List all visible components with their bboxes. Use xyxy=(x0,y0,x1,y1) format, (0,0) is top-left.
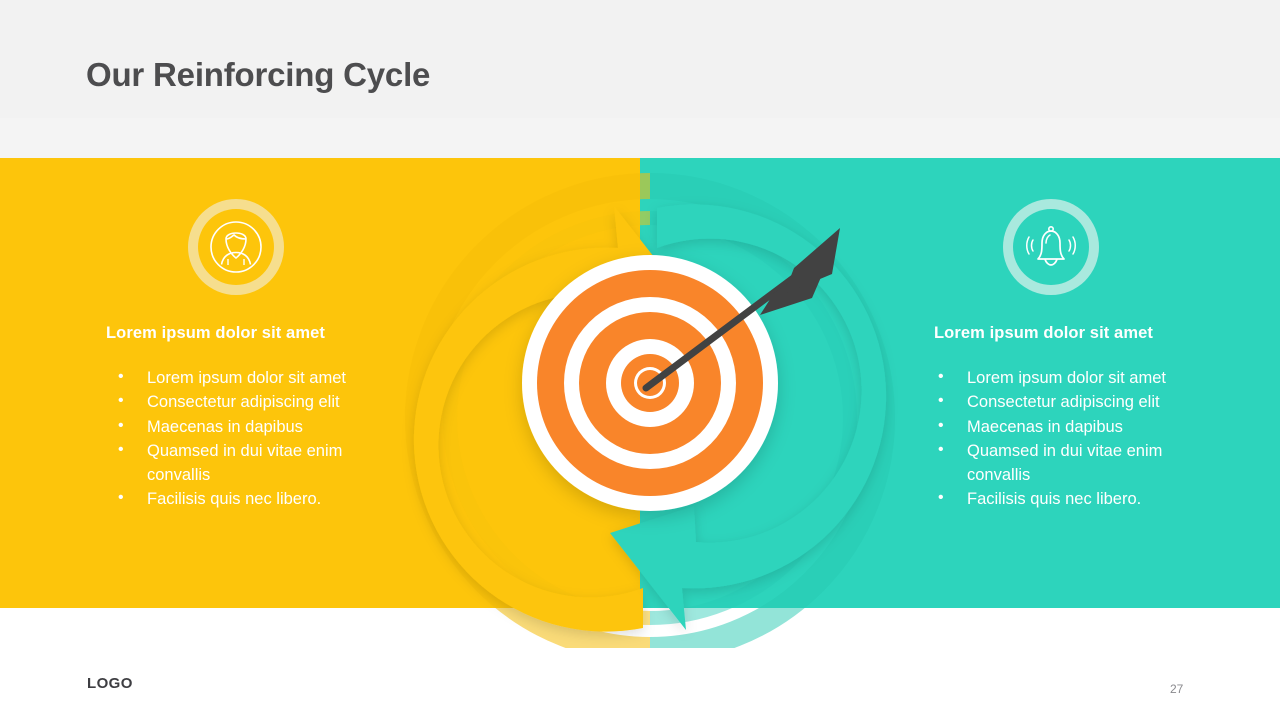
right-section-heading: Lorem ipsum dolor sit amet xyxy=(934,324,1153,343)
list-item: Maecenas in dapibus xyxy=(933,415,1223,439)
user-profile-icon xyxy=(198,209,274,285)
slide-canvas: Our Reinforcing Cycle xyxy=(0,0,1280,720)
list-item: Consectetur adipiscing elit xyxy=(933,390,1223,414)
list-item: Lorem ipsum dolor sit amet xyxy=(933,366,1223,390)
left-section-heading: Lorem ipsum dolor sit amet xyxy=(106,324,325,343)
right-icon-inner-circle xyxy=(1013,209,1089,285)
reinforcing-cycle-graphic xyxy=(400,118,900,648)
list-item: Facilisis quis nec libero. xyxy=(113,487,403,511)
bell-notification-icon xyxy=(1013,209,1089,285)
left-icon-badge[interactable] xyxy=(188,199,284,295)
right-bullet-list: Lorem ipsum dolor sit amet Consectetur a… xyxy=(933,366,1223,512)
left-icon-inner-circle xyxy=(198,209,274,285)
list-item: Quamsed in dui vitae enim convallis xyxy=(113,439,403,488)
right-icon-badge[interactable] xyxy=(1003,199,1099,295)
list-item: Facilisis quis nec libero. xyxy=(933,487,1223,511)
list-item: Quamsed in dui vitae enim convallis xyxy=(933,439,1223,488)
page-number: 27 xyxy=(1170,682,1183,696)
list-item: Maecenas in dapibus xyxy=(113,415,403,439)
list-item: Consectetur adipiscing elit xyxy=(113,390,403,414)
left-bullet-list: Lorem ipsum dolor sit amet Consectetur a… xyxy=(113,366,403,512)
logo: LOGO xyxy=(87,675,133,692)
page-title: Our Reinforcing Cycle xyxy=(86,56,430,94)
list-item: Lorem ipsum dolor sit amet xyxy=(113,366,403,390)
